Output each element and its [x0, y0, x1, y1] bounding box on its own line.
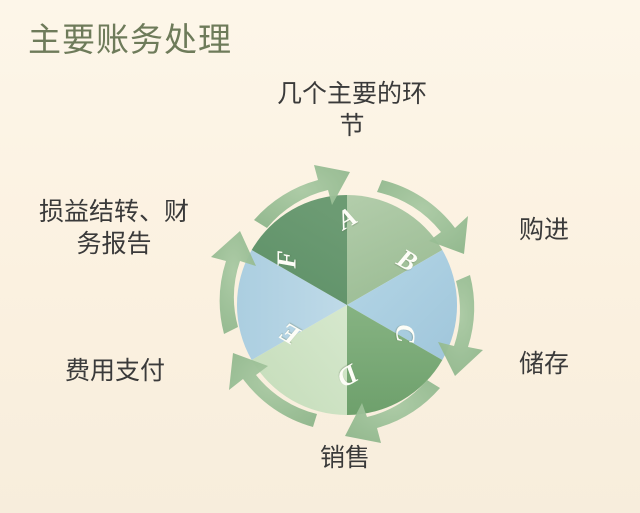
- cycle-diagram: A B C D E F 几个主要的环 节 购进 储存 销售 费用支付 损益结转、…: [0, 0, 640, 513]
- label-segment-e: 费用支付: [25, 355, 205, 387]
- label-segment-b: 购进: [519, 214, 629, 246]
- label-segment-d: 销售: [255, 442, 435, 474]
- segment-letter-f: F: [272, 250, 303, 268]
- segment-letter-c: C: [390, 324, 421, 342]
- slide-canvas: 主要账务处理: [0, 0, 640, 513]
- label-segment-a: 几个主要的环 节: [237, 78, 467, 142]
- label-segment-f: 损益结转、财 务报告: [8, 196, 220, 260]
- label-segment-c: 储存: [519, 348, 629, 380]
